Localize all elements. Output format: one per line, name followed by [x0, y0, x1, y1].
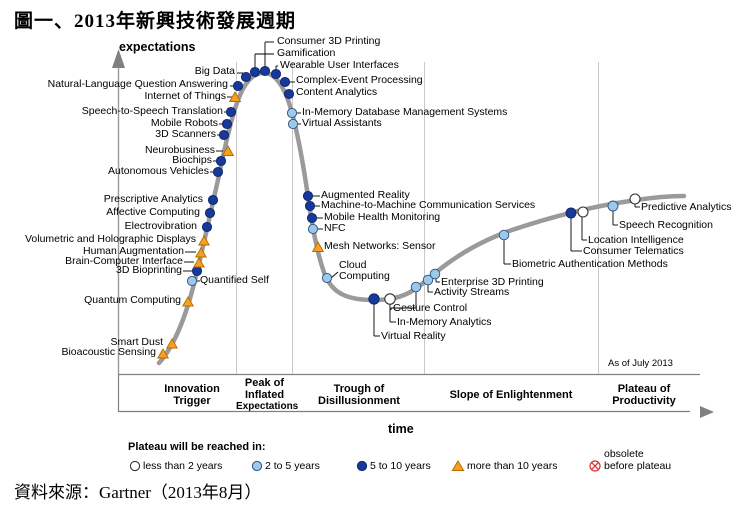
legend-item-2-to-5-years: 2 to 5 years — [265, 460, 320, 472]
tech-label-gamification: Gamification — [277, 48, 335, 60]
as-of-date: As of July 2013 — [608, 358, 673, 369]
marker-light — [499, 230, 509, 240]
phase-line: Plateau of — [598, 383, 690, 395]
marker-dark — [205, 208, 214, 217]
phase-line: Expectations — [236, 401, 293, 413]
tech-label-mesh-networks-sensor: Mesh Networks: Sensor — [324, 241, 435, 253]
phase-line: Disillusionment — [300, 395, 418, 407]
legend-light-circle-icon — [252, 461, 261, 470]
tech-label-3d-scanners: 3D Scanners — [155, 129, 216, 141]
phase-label-slope-of-enlightenment: Slope of Enlightenment — [424, 389, 598, 401]
marker-light — [608, 201, 618, 211]
marker-dark — [226, 107, 235, 116]
phase-label-plateau-of-productivity: Plateau of Productivity — [598, 383, 690, 407]
x-axis-arrow — [700, 406, 714, 418]
tech-label-speech-recognition: Speech Recognition — [619, 220, 713, 232]
legend-title: Plateau will be reached in: — [128, 441, 266, 453]
tech-label-virtual-assistants: Virtual Assistants — [302, 118, 382, 130]
tech-label-cloud-computing: Cloud Computing — [339, 260, 399, 282]
y-axis-title: expectations — [119, 40, 195, 54]
tech-label-volumetric-and-holographic-displays: Volumetric and Holographic Displays — [25, 234, 196, 246]
tech-label-consumer-telematics: Consumer Telematics — [583, 246, 684, 258]
marker-dark — [208, 195, 217, 204]
tech-label-bioacoustic-sensing: Bioacoustic Sensing — [61, 347, 156, 359]
marker-triangle — [199, 236, 209, 245]
tech-label-virtual-reality: Virtual Reality — [381, 331, 446, 343]
marker-dark — [213, 167, 222, 176]
tech-label-electrovibration: Electrovibration — [125, 221, 197, 233]
marker-dark — [566, 208, 576, 218]
tech-label-biometric-authentication-methods: Biometric Authentication Methods — [512, 259, 668, 271]
marker-triangle — [194, 258, 204, 267]
phase-line: Trigger — [147, 395, 237, 407]
legend-item-less-than-2-years: less than 2 years — [143, 460, 222, 472]
tech-label-speech-to-speech-translation: Speech-to-Speech Translation — [82, 106, 223, 118]
marker-light — [288, 119, 297, 128]
marker-light — [287, 108, 296, 117]
tech-label-internet-of-things: Internet of Things — [144, 91, 226, 103]
marker-dark — [202, 222, 211, 231]
marker-open — [630, 194, 640, 204]
tech-label-content-analytics: Content Analytics — [296, 87, 377, 99]
marker-dark — [219, 130, 228, 139]
phase-line: Trough of — [300, 383, 418, 395]
tech-label-wearable-user-interfaces: Wearable User Interfaces — [280, 60, 399, 72]
marker-dark — [305, 201, 314, 210]
tech-label-predictive-analytics: Predictive Analytics — [641, 202, 731, 214]
legend-open-circle-icon — [130, 461, 139, 470]
source-line: 資料來源：Gartner（2013年8月） — [14, 478, 261, 503]
marker-dark — [216, 156, 225, 165]
tech-label-location-intelligence: Location Intelligence — [588, 235, 684, 247]
legend-dark-circle-icon — [357, 461, 366, 470]
marker-dark — [250, 67, 259, 76]
phase-label-peak-of-inflated-expectations: Peak of Inflated Expectations — [236, 377, 293, 413]
tech-label-nfc: NFC — [324, 223, 346, 235]
phase-label-trough-of-disillusionment: Trough of Disillusionment — [300, 383, 418, 407]
marker-light — [411, 282, 421, 292]
tech-label-machine-to-machine-communication-services: Machine-to-Machine Communication Service… — [321, 200, 535, 212]
marker-open — [578, 207, 588, 217]
marker-light — [322, 273, 331, 282]
tech-label-activity-streams: Activity Streams — [434, 287, 509, 299]
tech-label-natural-language-question-answering: Natural-Language Question Answering — [48, 79, 228, 91]
marker-dark — [222, 119, 231, 128]
marker-light — [187, 276, 196, 285]
marker-dark — [241, 72, 250, 81]
tech-label-big-data: Big Data — [195, 66, 235, 78]
tech-label-gesture-control: Gesture Control — [393, 303, 467, 315]
phase-line: Productivity — [598, 395, 690, 407]
phase-line: Slope of Enlightenment — [424, 389, 598, 401]
tech-label-quantum-computing: Quantum Computing — [84, 295, 181, 307]
tech-label-consumer-3d-printing: Consumer 3D Printing — [277, 36, 380, 48]
marker-dark — [280, 77, 289, 86]
phase-line: Inflated — [236, 389, 293, 401]
tech-label-affective-computing: Affective Computing — [106, 207, 200, 219]
legend-item-5-to-10-years: 5 to 10 years — [370, 460, 431, 472]
tech-label-3d-bioprinting: 3D Bioprinting — [116, 265, 182, 277]
legend-orange-triangle-icon — [452, 461, 463, 471]
legend-item-before-plateau: before plateau — [604, 460, 671, 472]
marker-dark — [369, 294, 379, 304]
marker-dark — [233, 81, 242, 90]
marker-light — [430, 269, 440, 279]
marker-dark — [307, 213, 316, 222]
marker-dark — [284, 89, 293, 98]
phase-label-innovation-trigger: Innovation Trigger — [147, 383, 237, 407]
marker-dark — [303, 191, 312, 200]
marker-dark — [260, 66, 269, 75]
x-axis-title: time — [388, 422, 414, 436]
tech-label-prescriptive-analytics: Prescriptive Analytics — [104, 194, 203, 206]
marker-triangle — [196, 248, 206, 257]
legend-obsolete-x-icon — [590, 461, 600, 471]
tech-label-quantified-self: Quantified Self — [200, 275, 269, 287]
legend-item-more-than-10-years: more than 10 years — [467, 460, 557, 472]
legend-item-obsolete: obsolete — [604, 448, 644, 460]
tech-label-autonomous-vehicles: Autonomous Vehicles — [108, 166, 209, 178]
marker-light — [308, 224, 317, 233]
tech-label-enterprise-3d-printing: Enterprise 3D Printing — [441, 277, 544, 289]
tech-label-complex-event-processing: Complex-Event Processing — [296, 75, 423, 87]
tech-label-in-memory-analytics: In-Memory Analytics — [397, 317, 492, 329]
phase-line: Peak of — [236, 377, 293, 389]
phase-line: Innovation — [147, 383, 237, 395]
